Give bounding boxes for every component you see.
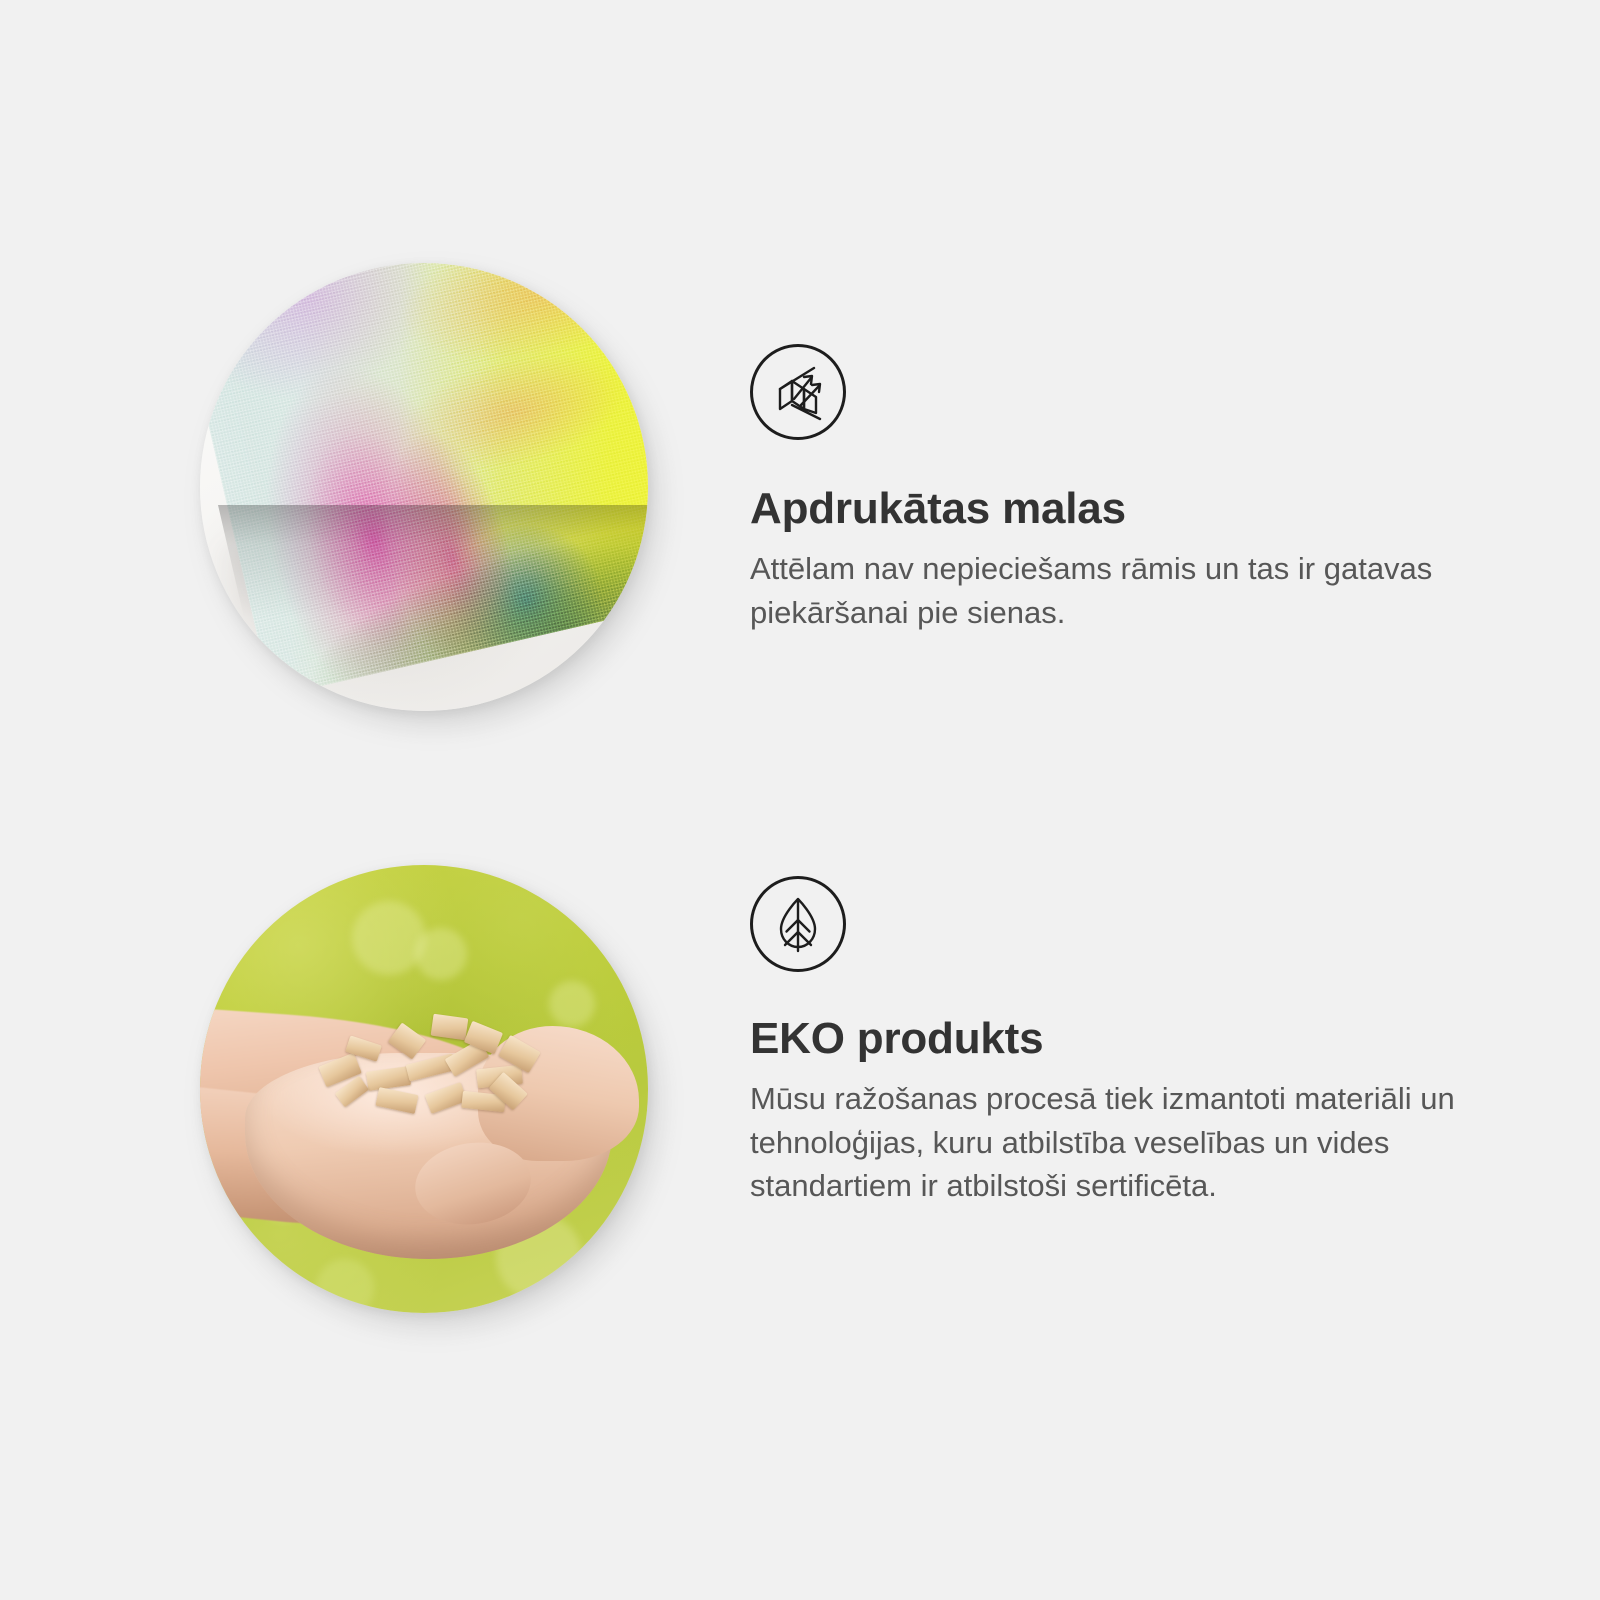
feature-block-printed-edges: Apdrukātas malas Attēlam nav nepieciešam… <box>0 0 1600 800</box>
canvas-printed-face <box>200 263 648 698</box>
bokeh-light <box>316 1259 374 1313</box>
feature-text-printed-edges: Apdrukātas malas Attēlam nav nepieciešam… <box>750 344 1480 634</box>
bokeh-light <box>352 901 426 975</box>
leaf-icon <box>750 876 846 972</box>
feature-text-eco-product: EKO produkts Mūsu ražošanas procesā tiek… <box>750 876 1480 1207</box>
feature-image-eco-product <box>200 865 648 1313</box>
feature-block-eco-product: EKO produkts Mūsu ražošanas procesā tiek… <box>0 800 1600 1600</box>
printed-edges-icon <box>750 344 846 440</box>
feature-description: Mūsu ražošanas procesā tiek izmantoti ma… <box>750 1063 1465 1207</box>
photo-backdrop <box>200 263 648 711</box>
page-title: EKO produkts <box>750 972 1480 1063</box>
wood-chips-in-hands-photo <box>200 865 648 1313</box>
product-features-page: Apdrukātas malas Attēlam nav nepieciešam… <box>0 0 1600 1600</box>
photo-backdrop <box>200 865 648 1313</box>
feature-image-printed-edges <box>200 263 648 711</box>
bokeh-light <box>415 928 467 980</box>
wood-chip-pile <box>316 999 567 1133</box>
feature-description: Attēlam nav nepieciešams rāmis un tas ir… <box>750 533 1465 634</box>
page-title: Apdrukātas malas <box>750 440 1480 533</box>
canvas-corner-photo <box>200 263 648 711</box>
